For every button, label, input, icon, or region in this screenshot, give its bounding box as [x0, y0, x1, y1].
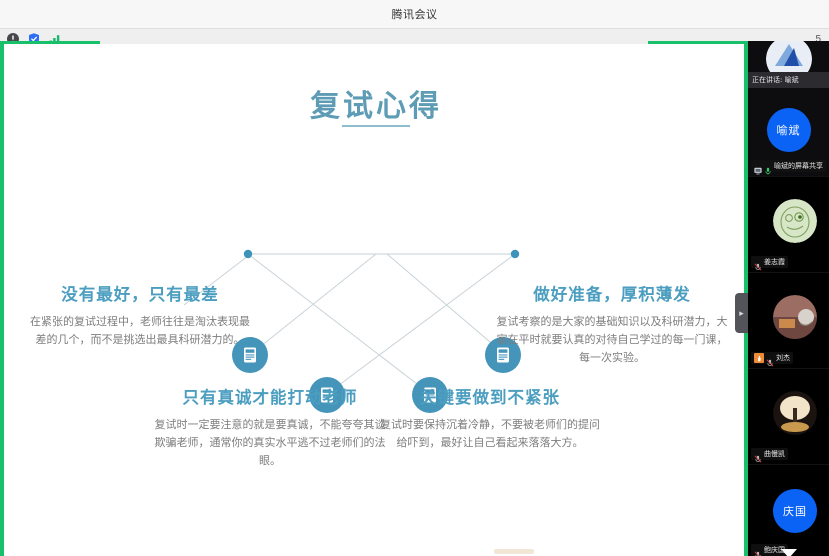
slide-title: 复试心得	[4, 81, 748, 125]
participant-tile[interactable]: 庆国 鲍庆国	[748, 465, 829, 556]
shared-screen-region: 复试心得	[0, 41, 748, 556]
slide-block-right: 做好准备，厚积薄发 复试考察的是大家的基础知识以及科研潜力，大家在平时就要认真的…	[496, 281, 728, 366]
slide-block-midright: 关键要做到不紧张 复试时要保持沉着冷静，不要被老师们的提问给吓到，最好让自己看起…	[376, 384, 604, 452]
avatar-initials: 庆国	[773, 489, 817, 533]
block-body: 复试时一定要注意的就是要真诚，不能夸夸其谈欺骗老师，通常你的真实水平逃不过老师们…	[154, 416, 386, 469]
diagram-node-right	[511, 250, 519, 258]
screen-share-icon	[754, 162, 762, 170]
participant-tile[interactable]: 曲慢凯	[748, 369, 829, 465]
block-heading: 关键要做到不紧张	[376, 384, 604, 408]
avatar	[773, 391, 817, 435]
chevron-down-icon[interactable]	[781, 549, 797, 556]
participant-tile[interactable]: 正在讲话: 喻斌 喻斌 喻斌的屏幕共享	[748, 41, 829, 177]
avatar-initials: 喻斌	[767, 108, 811, 152]
presentation-slide: 复试心得	[4, 44, 748, 556]
microphone-icon	[764, 162, 772, 170]
participant-name-bar: 喻斌的屏幕共享	[751, 160, 826, 172]
window-titlebar: 腾讯会议	[0, 0, 829, 29]
microphone-muted-icon	[754, 546, 762, 554]
block-body: 复试时要保持沉着冷静，不要被老师们的提问给吓到，最好让自己看起来落落大方。	[376, 416, 604, 452]
participant-name: 姜志霞	[764, 257, 785, 267]
slide-block-midleft: 只有真诚才能打动老师 复试时一定要注意的就是要真诚，不能夸夸其谈欺骗老师，通常你…	[154, 384, 386, 469]
bottom-partial-toolbar	[494, 549, 534, 554]
participant-tile[interactable]: 姜志霞	[748, 177, 829, 273]
raise-hand-icon	[754, 353, 764, 363]
participant-tile[interactable]: 刘杰	[748, 273, 829, 369]
block-heading: 只有真诚才能打动老师	[154, 384, 386, 408]
chevron-right-icon: ▸	[739, 309, 744, 318]
microphone-muted-icon	[754, 258, 762, 266]
block-body: 在紧张的复试过程中，老师往往是淘汰表现最差的几个，而不是挑选出最具科研潜力的。	[26, 313, 254, 349]
avatar	[773, 199, 817, 243]
participant-sidebar[interactable]: 正在讲话: 喻斌 喻斌 喻斌的屏幕共享	[748, 41, 829, 556]
title-underline	[342, 125, 410, 127]
participant-name: 曲慢凯	[764, 449, 785, 459]
tencent-meeting-window: 腾讯会议 5	[0, 0, 829, 556]
participant-share-label: 喻斌的屏幕共享	[774, 161, 823, 171]
diagram-node-left	[244, 250, 252, 258]
slide-block-left: 没有最好，只有最差 在紧张的复试过程中，老师往往是淘汰表现最差的几个，而不是挑选…	[26, 281, 254, 349]
participant-name-bar: 曲慢凯	[751, 448, 788, 460]
microphone-muted-icon	[754, 450, 762, 458]
block-heading: 没有最好，只有最差	[26, 281, 254, 305]
participant-name: 刘杰	[776, 353, 790, 363]
microphone-muted-icon	[766, 354, 774, 362]
sidebar-collapse-handle[interactable]: ▸	[735, 293, 748, 333]
avatar	[773, 295, 817, 339]
participant-name-bar: 姜志霞	[751, 256, 788, 268]
block-body: 复试考察的是大家的基础知识以及科研潜力，大家在平时就要认真的对待自己学过的每一门…	[496, 313, 728, 366]
window-title: 腾讯会议	[392, 6, 438, 22]
block-heading: 做好准备，厚积薄发	[496, 281, 728, 305]
speaking-label: 正在讲话: 喻斌	[748, 72, 829, 88]
participant-name-bar: 刘杰	[751, 352, 793, 364]
